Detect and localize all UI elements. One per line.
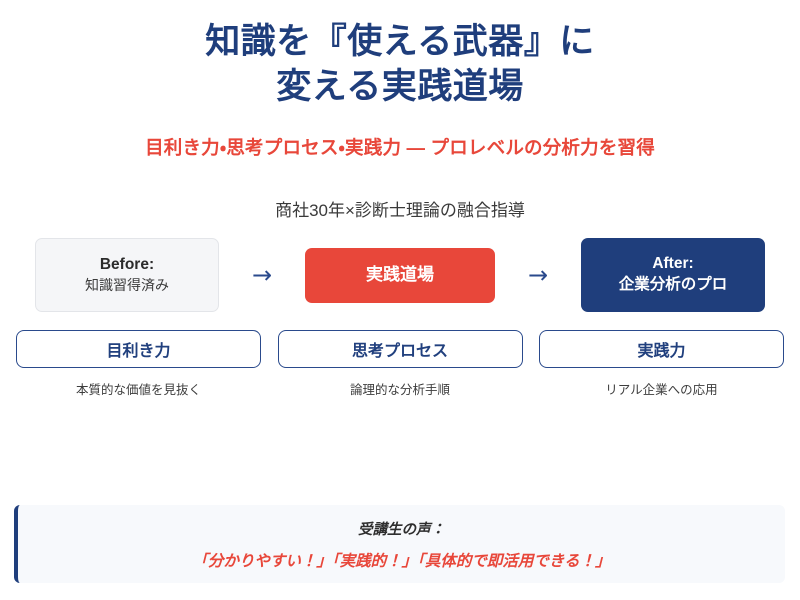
before-label-en: Before:: [100, 255, 154, 276]
after-label-jp: 企業分析のプロ: [619, 275, 728, 296]
title-line-1: 知識を『使える武器』に: [0, 20, 800, 65]
flow-box-before: Before: 知識習得済み: [35, 238, 219, 312]
flow-box-after: After: 企業分析のプロ: [581, 238, 765, 312]
pillar-title-2[interactable]: 思考プロセス: [278, 330, 523, 368]
tagline: 商社30年×診断士理論の融合指導: [0, 196, 800, 221]
pillar-title-3[interactable]: 実践力: [539, 330, 784, 368]
after-label-en: After:: [652, 254, 693, 275]
pillar-list: 目利き力 本質的な価値を見抜く 思考プロセス 論理的な分析手順 実践力 リアル企…: [16, 330, 784, 398]
transformation-flow: Before: 知識習得済み → 実践道場 → After: 企業分析のプロ: [35, 238, 765, 312]
arrow-right-icon-1: →: [243, 263, 281, 287]
program-label: 実践道場: [366, 264, 434, 287]
slide-root: 知識を『使える武器』に 変える実践道場 目利き力・思考プロセス・実践力 ― プロ…: [0, 0, 800, 600]
pillar-title-1[interactable]: 目利き力: [16, 330, 261, 368]
flow-box-program: 実践道場: [305, 248, 495, 303]
subtitle: 目利き力・思考プロセス・実践力 ― プロレベルの分析力を習得: [0, 134, 800, 160]
pillar-item-3: 実践力 リアル企業への応用: [539, 330, 784, 398]
pillar-caption-3: リアル企業への応用: [605, 379, 717, 398]
pillar-caption-2: 論理的な分析手順: [350, 379, 450, 398]
pillar-item-1: 目利き力 本質的な価値を見抜く: [16, 330, 261, 398]
pillar-item-2: 思考プロセス 論理的な分析手順: [278, 330, 523, 398]
before-label-jp: 知識習得済み: [85, 276, 169, 295]
arrow-right-icon-2: →: [519, 263, 557, 287]
title-line-2: 変える実践道場: [0, 65, 800, 110]
testimonial-heading: 受講生の声：: [358, 518, 445, 539]
testimonial-quote: 「分かりやすい！」「実践的！」「具体的で即活用できる！」: [192, 549, 610, 571]
pillar-caption-1: 本質的な価値を見抜く: [76, 379, 201, 398]
testimonial-box: 受講生の声： 「分かりやすい！」「実践的！」「具体的で即活用できる！」: [14, 505, 785, 583]
page-title: 知識を『使える武器』に 変える実践道場: [0, 20, 800, 110]
